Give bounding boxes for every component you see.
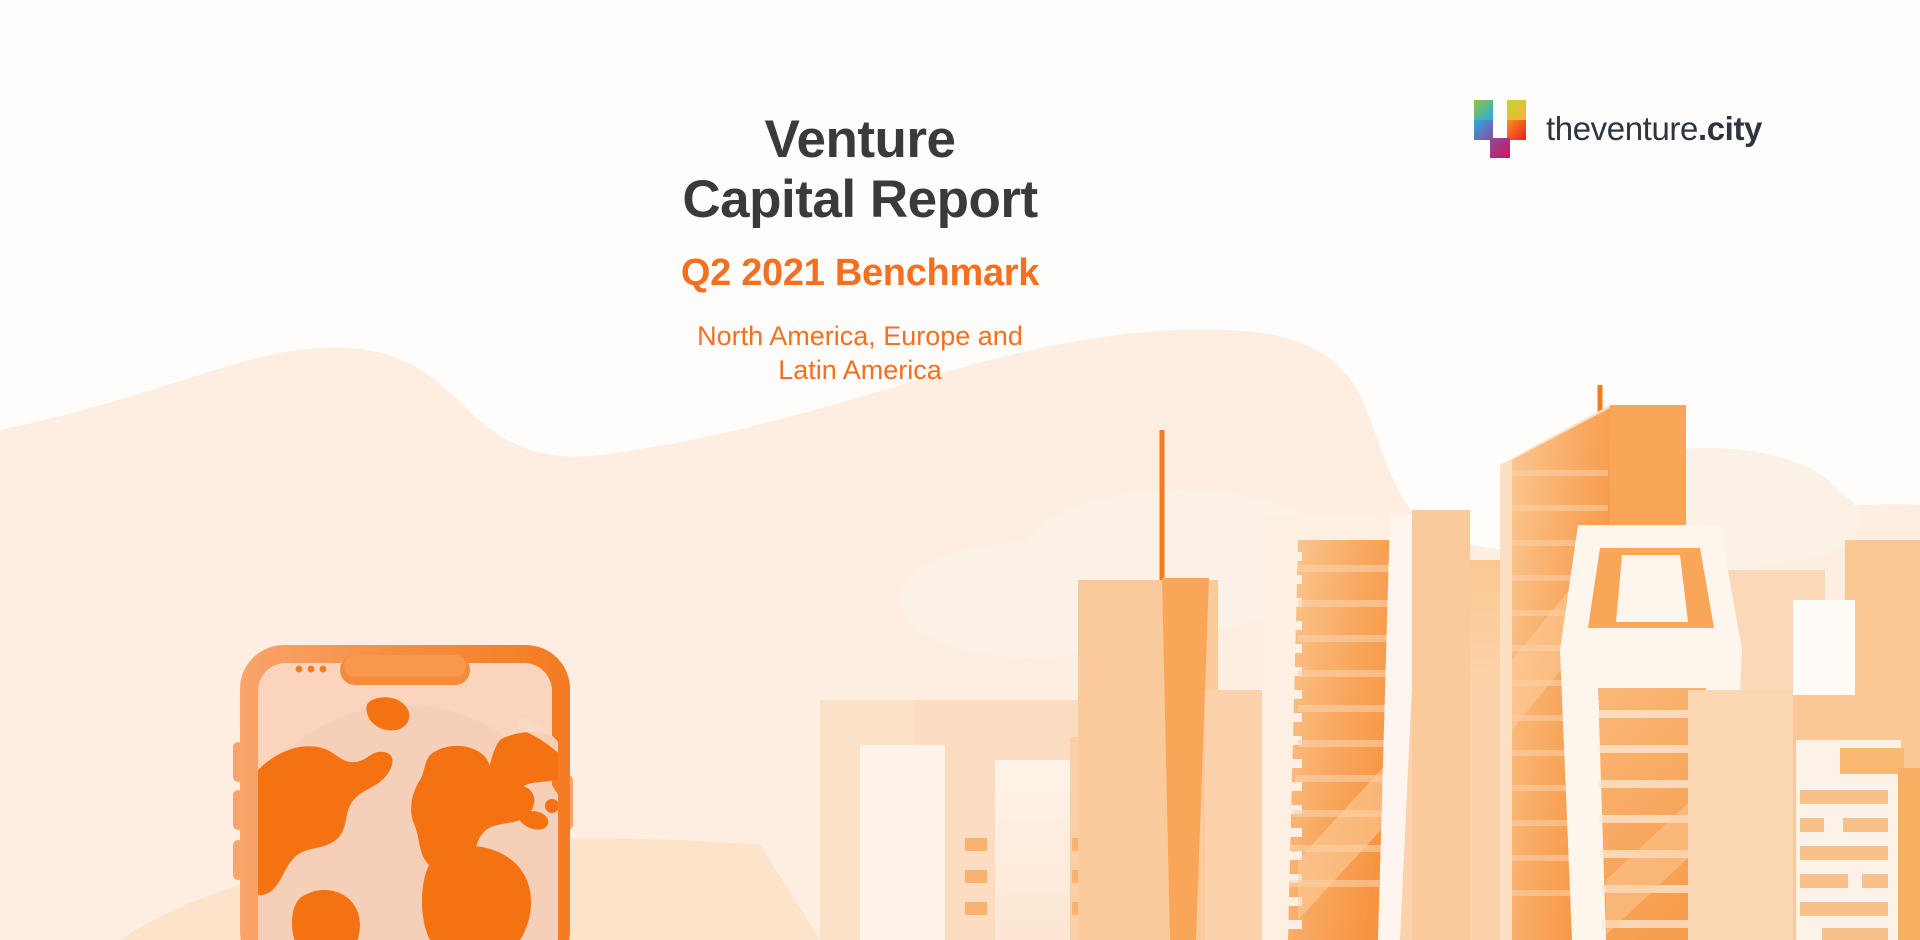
brand-wordmark-bold: .city: [1698, 110, 1762, 147]
phone-silent-switch: [233, 840, 243, 880]
brand-logo[interactable]: theventure.city: [1472, 98, 1762, 160]
brand-wordmark: theventure.city: [1546, 110, 1762, 148]
report-cover-slide: Venture Capital Report Q2 2021 Benchmark…: [0, 0, 1920, 940]
phone-volume-up: [233, 742, 243, 782]
page-regions: North America, Europe and Latin America: [560, 319, 1160, 388]
phone-notch-dots: [296, 666, 327, 673]
page-title: Venture Capital Report: [560, 110, 1160, 230]
title-block: Venture Capital Report Q2 2021 Benchmark…: [560, 110, 1160, 388]
globe-graphic: [230, 697, 580, 940]
phone-power-button: [563, 775, 573, 830]
phone-volume-down: [233, 790, 243, 830]
page-subtitle: Q2 2021 Benchmark: [560, 252, 1160, 295]
theventure-city-logo-mark: [1472, 98, 1528, 160]
phone-notch: [340, 655, 470, 685]
brand-wordmark-light: theventure: [1546, 110, 1698, 147]
